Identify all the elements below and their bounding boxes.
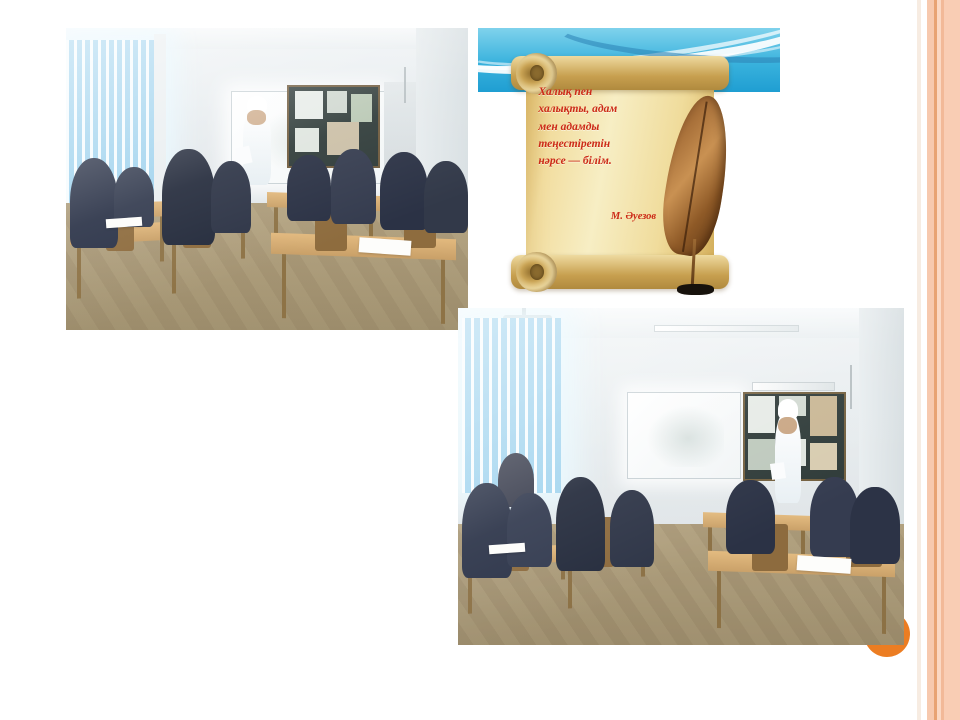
student-figure: [211, 161, 251, 233]
blackboard-lamp: [752, 382, 834, 391]
presenter-figure: [775, 412, 802, 503]
ceiling-hanger: [850, 365, 852, 409]
wall-poster: [295, 128, 319, 152]
student-figure: [162, 149, 214, 246]
presenter-face: [247, 110, 266, 124]
quote-line: Халық пен: [538, 84, 725, 101]
wall-poster: [748, 396, 775, 433]
student-figure: [726, 480, 775, 554]
slide-edge-border: [917, 0, 960, 720]
ceiling-hanger: [404, 67, 406, 103]
wall-poster: [351, 94, 371, 121]
photo-quote-scroll-graphic[interactable]: Халық пен халықты, адам мен адамды теңес…: [478, 28, 780, 306]
wall-poster: [295, 91, 323, 118]
presentation-slide: Халық пен халықты, адам мен адамды теңес…: [0, 0, 960, 720]
student-figure: [610, 490, 655, 568]
wall-poster: [810, 396, 837, 436]
student-figure: [556, 477, 605, 571]
scroll-curl-icon: [516, 252, 557, 293]
presenter-face: [778, 417, 797, 434]
student-figure: [331, 149, 375, 225]
student-figure: [507, 493, 552, 567]
ceiling-light-strip: [654, 325, 799, 332]
photo-classroom-lecture-wide[interactable]: [66, 28, 468, 330]
student-figure: [850, 487, 899, 565]
presenter-figure: [243, 107, 271, 186]
border-stripe: [944, 0, 960, 720]
ink-stand-icon: [677, 284, 713, 295]
student-figure: [287, 155, 331, 221]
presenter-paper: [770, 463, 786, 481]
student-figure: [462, 483, 511, 577]
student-figure: [70, 158, 118, 249]
presenter-cap: [778, 399, 798, 419]
whiteboard: [627, 392, 741, 478]
wall-poster: [327, 91, 347, 112]
border-stripe: [927, 0, 934, 720]
photo-classroom-lecture-projector[interactable]: [458, 308, 904, 645]
student-figure: [424, 161, 468, 233]
wall-poster: [810, 443, 837, 470]
student-figure: [380, 152, 428, 231]
